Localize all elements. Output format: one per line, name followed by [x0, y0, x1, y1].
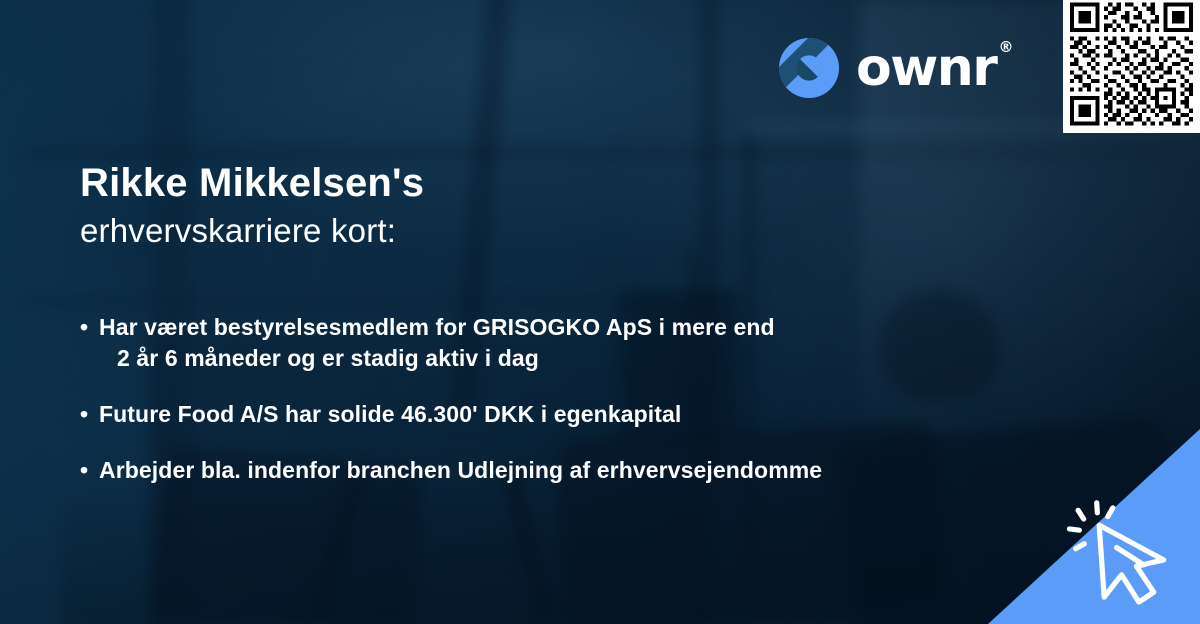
page-title: Rikke Mikkelsen's erhvervskarriere kort: — [80, 158, 424, 254]
promo-card: ownr® — [0, 0, 1200, 624]
bullet-dot-icon: • — [80, 455, 99, 486]
ownr-wordmark-text: ownr — [856, 38, 996, 98]
career-highlights-list: • Har været bestyrelsesmedlem for GRISOG… — [80, 312, 980, 486]
qr-code-icon — [1070, 2, 1193, 126]
list-item-text: Future Food A/S har solide 46.300' DKK i… — [99, 401, 681, 427]
list-item: • Future Food A/S har solide 46.300' DKK… — [80, 399, 980, 430]
list-item: • Arbejder bla. indenfor branchen Udlejn… — [80, 455, 980, 486]
list-item-text: Arbejder bla. indenfor branchen Udlejnin… — [99, 457, 822, 483]
registered-trademark-icon: ® — [998, 40, 1013, 55]
headline-line-1: Rikke Mikkelsen's — [80, 158, 424, 208]
qr-code[interactable] — [1063, 0, 1200, 133]
click-cursor-icon[interactable] — [1062, 488, 1186, 612]
headline-line-2: erhvervskarriere kort: — [80, 208, 424, 254]
list-item: • Har været bestyrelsesmedlem for GRISOG… — [80, 312, 980, 374]
ownr-circle-split-logo-icon — [778, 37, 840, 99]
ownr-wordmark: ownr® — [856, 42, 996, 94]
bullet-dot-icon: • — [80, 399, 99, 430]
ownr-logo[interactable]: ownr® — [778, 37, 996, 99]
bullet-dot-icon: • — [80, 312, 99, 343]
list-item-continuation: 2 år 6 måneder og er stadig aktiv i dag — [99, 343, 980, 374]
list-item-text: Har været bestyrelsesmedlem for GRISOGKO… — [99, 314, 775, 340]
